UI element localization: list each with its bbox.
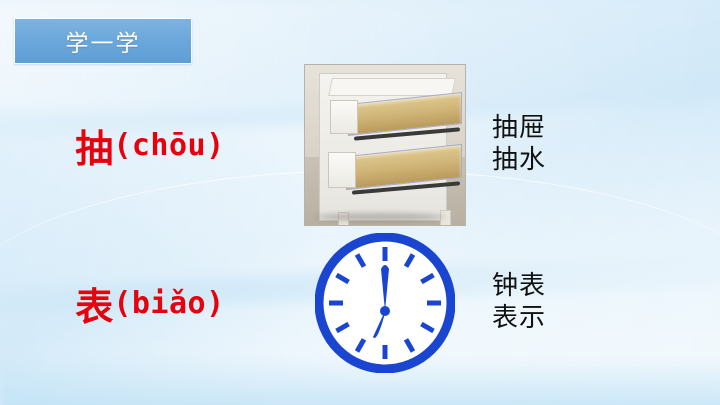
image-cell-1 [300, 64, 470, 226]
word-item: 抽水 [492, 145, 700, 177]
page-title: 学一学 [66, 24, 141, 58]
drawer-photo [304, 64, 466, 226]
photo-drawer-front-lower [328, 152, 356, 188]
photo-drawer-front-upper [330, 100, 358, 134]
character-cell-1: 抽(chōu) [0, 118, 300, 173]
character-1: 抽 [75, 127, 113, 171]
slide-title-tab: 学一学 [14, 18, 192, 64]
lesson-row-1: 抽(chōu) 抽屉 [0, 60, 720, 230]
lesson-row-2: 表(biǎo) [0, 228, 720, 378]
clock-icon [315, 233, 455, 373]
word-list-1: 抽屉 抽水 [470, 113, 700, 176]
word-item: 抽屉 [492, 113, 700, 145]
word-item: 钟表 [492, 271, 700, 303]
word-list-2: 钟表 表示 [470, 271, 700, 334]
character-2: 表 [75, 285, 113, 329]
pinyin-1: (chōu) [113, 128, 224, 163]
photo-cabinet-top [328, 78, 456, 96]
image-cell-2 [300, 233, 470, 373]
slide-canvas: 学一学 抽(chōu) [0, 0, 720, 405]
clock-center-pin [380, 306, 390, 316]
photo-cabinet [319, 73, 447, 221]
character-cell-2: 表(biǎo) [0, 276, 300, 331]
photo-shadow [315, 213, 445, 221]
word-item: 表示 [492, 303, 700, 335]
clock-illustration [315, 233, 455, 373]
pinyin-2: (biǎo) [113, 286, 224, 321]
